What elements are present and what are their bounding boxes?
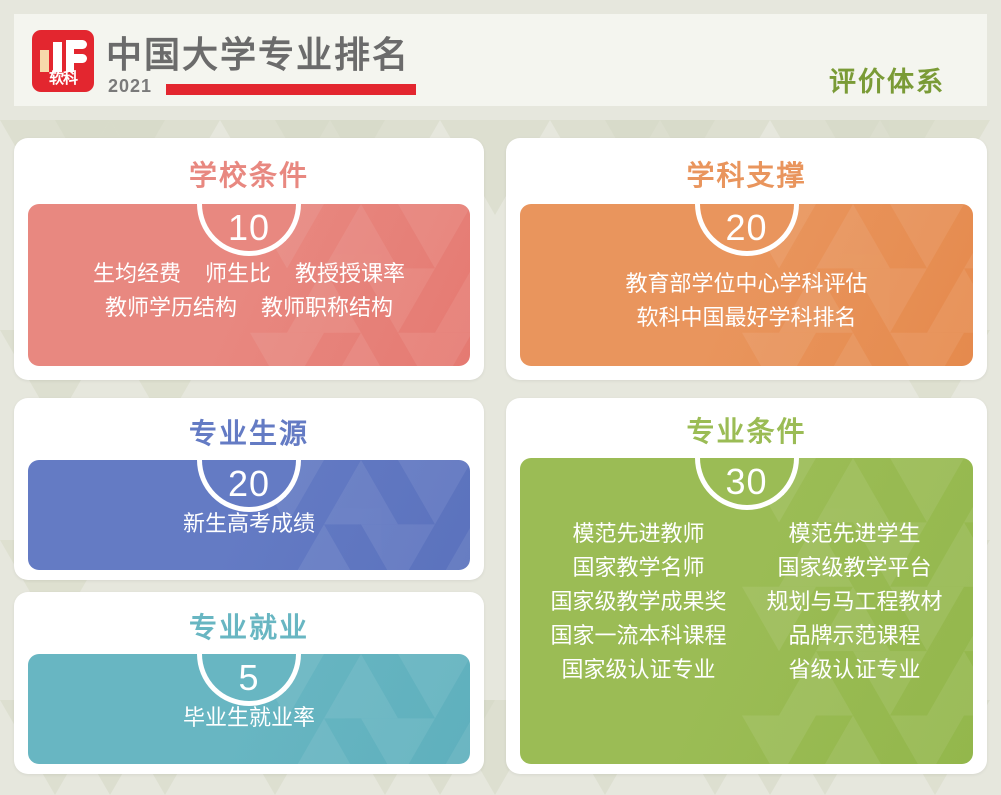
card-indicator-list-program-conditions: 模范先进教师模范先进学生国家教学名师国家级教学平台国家级教学成果奖规划与马工程教… [520,518,973,688]
indicator-item: 师生比 [205,258,271,292]
brand-logo: 软科 [32,30,94,92]
indicator-row: 国家教学名师国家级教学平台 [520,552,973,586]
indicator-item: 国家级教学成果奖 [544,586,734,620]
indicator-row: 教育部学位中心学科评估 [520,268,973,302]
weight-value-school-conditions: 10 [228,210,270,246]
indicator-item: 模范先进学生 [760,518,950,552]
indicator-card-school-conditions: 学校条件生均经费师生比教授授课率教师学历结构教师职称结构10 [14,138,484,380]
indicator-item: 模范先进教师 [544,518,734,552]
title-rule [166,84,416,95]
card-title-program-conditions: 专业条件 [506,410,987,450]
logo-bar-3 [66,40,74,72]
card-indicator-list-employment: 毕业生就业率 [28,702,470,736]
logo-bar-2 [53,42,62,72]
indicator-item: 生均经费 [93,258,181,292]
indicator-row: 模范先进教师模范先进学生 [520,518,973,552]
page-title: 中国大学专业排名 [106,26,410,78]
indicator-card-discipline-support: 学科支撑教育部学位中心学科评估软科中国最好学科排名20 [506,138,987,380]
indicator-row: 毕业生就业率 [28,702,470,736]
indicator-row: 软科中国最好学科排名 [520,302,973,336]
indicator-item: 教师职称结构 [261,292,393,326]
indicator-card-program-conditions: 专业条件模范先进教师模范先进学生国家教学名师国家级教学平台国家级教学成果奖规划与… [506,398,987,774]
indicator-item: 品牌示范课程 [760,620,950,654]
indicator-item: 国家级认证专业 [544,654,734,688]
indicator-row: 国家级教学成果奖规划与马工程教材 [520,586,973,620]
card-indicator-list-discipline-support: 教育部学位中心学科评估软科中国最好学科排名 [520,268,973,336]
card-indicator-list-student-source: 新生高考成绩 [28,508,470,542]
indicator-row: 国家级认证专业省级认证专业 [520,654,973,688]
indicator-item: 国家教学名师 [544,552,734,586]
indicator-item: 国家级教学平台 [760,552,950,586]
indicator-item: 教授授课率 [295,258,405,292]
card-title-discipline-support: 学科支撑 [506,154,987,194]
indicator-row: 国家一流本科课程品牌示范课程 [520,620,973,654]
logo-bar-5 [74,54,87,63]
card-title-student-source: 专业生源 [14,412,484,452]
card-indicator-list-school-conditions: 生均经费师生比教授授课率教师学历结构教师职称结构 [28,258,470,326]
edition-year: 2021 [108,76,152,97]
indicator-item: 国家一流本科课程 [544,620,734,654]
card-title-employment: 专业就业 [14,606,484,646]
indicator-item: 规划与马工程教材 [760,586,950,620]
card-title-school-conditions: 学校条件 [14,154,484,194]
indicator-row: 新生高考成绩 [28,508,470,542]
indicator-card-student-source: 专业生源新生高考成绩20 [14,398,484,580]
weight-value-employment: 5 [238,660,259,696]
indicator-card-employment: 专业就业毕业生就业率5 [14,592,484,774]
weight-value-discipline-support: 20 [725,210,767,246]
indicator-item: 教师学历结构 [105,292,237,326]
weight-value-student-source: 20 [228,466,270,502]
indicator-item: 省级认证专业 [760,654,950,688]
header-bar: 软科 中国大学专业排名 2021 评价体系 [14,14,987,106]
indicator-row: 教师学历结构教师职称结构 [28,292,470,326]
logo-wordmark: 软科 [37,69,89,88]
weight-value-program-conditions: 30 [725,464,767,500]
indicator-row: 生均经费师生比教授授课率 [28,258,470,292]
section-title: 评价体系 [829,60,945,99]
logo-bar-4 [74,40,87,49]
